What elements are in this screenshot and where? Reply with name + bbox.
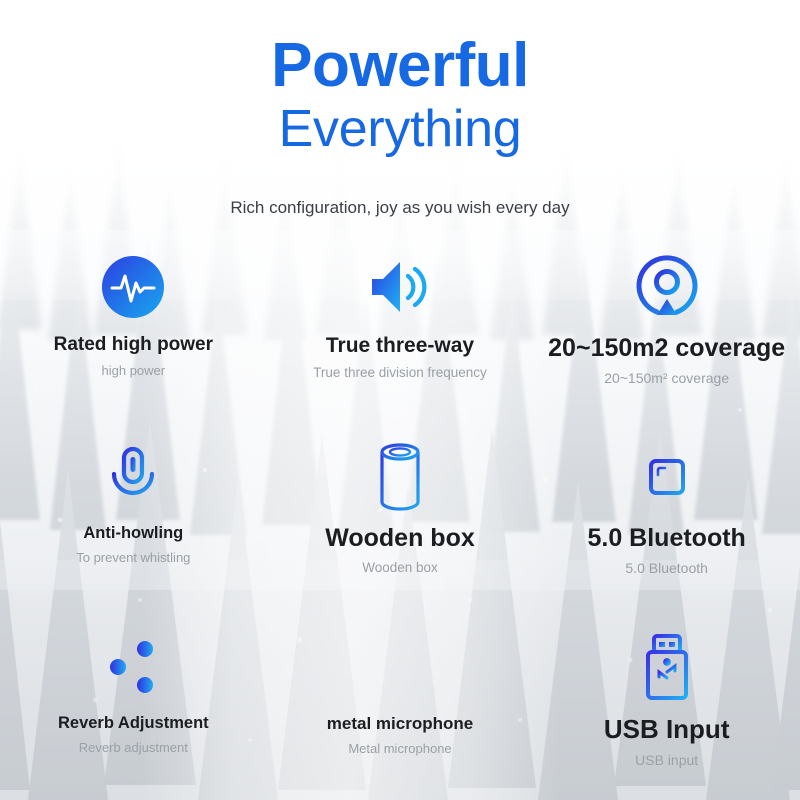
page-title: Powerful Everything bbox=[0, 34, 800, 156]
feature-subtitle: USB input bbox=[635, 752, 698, 768]
feature-title: 20~150m2 coverage bbox=[548, 334, 785, 363]
feature-title: Anti-howling bbox=[83, 524, 183, 543]
waveform-circle-icon bbox=[100, 246, 166, 328]
mesh-grille-icon bbox=[367, 626, 433, 708]
feature-subtitle: 5.0 Bluetooth bbox=[625, 560, 708, 576]
feature-item-metal-microphone: metal microphone Metal microphone bbox=[267, 626, 534, 800]
feature-item-usb-input: USB Input USB input bbox=[533, 626, 800, 800]
feature-title: USB Input bbox=[604, 714, 730, 745]
wood-log-icon bbox=[371, 436, 429, 518]
feature-title: True three-way bbox=[326, 334, 474, 358]
speaker-volume-icon bbox=[366, 246, 434, 328]
cpu-chip-icon bbox=[634, 436, 700, 518]
feature-title: metal microphone bbox=[327, 714, 473, 734]
feature-title: Wooden box bbox=[325, 524, 475, 553]
page-subtitle: Rich configuration, joy as you wish ever… bbox=[0, 198, 800, 218]
headline-line-1: Powerful bbox=[0, 34, 800, 97]
content-layer: Powerful Everything Rich configuration, … bbox=[0, 0, 800, 800]
feature-grid: Rated high power high power True three-w… bbox=[0, 246, 800, 800]
feature-subtitle: 20~150m² coverage bbox=[604, 370, 729, 386]
feature-subtitle: Wooden box bbox=[362, 560, 438, 575]
headline-line-2: Everything bbox=[0, 103, 800, 156]
feature-title: 5.0 Bluetooth bbox=[587, 524, 745, 553]
usb-drive-icon bbox=[641, 626, 693, 708]
feature-item-coverage: 20~150m2 coverage 20~150m² coverage bbox=[533, 246, 800, 426]
feature-item-anti-howling: Anti-howling To prevent whistling bbox=[0, 436, 267, 616]
feature-item-true-three-way: True three-way True three division frequ… bbox=[267, 246, 534, 426]
feature-item-reverb-adjustment: Reverb Adjustment Reverb adjustment bbox=[0, 626, 267, 800]
feature-subtitle: True three division frequency bbox=[313, 365, 487, 380]
feature-item-bluetooth: 5.0 Bluetooth 5.0 Bluetooth bbox=[533, 436, 800, 616]
feature-subtitle: To prevent whistling bbox=[76, 550, 190, 565]
feature-title: Rated high power bbox=[54, 334, 213, 356]
feature-item-rated-high-power: Rated high power high power bbox=[0, 246, 267, 426]
promo-page: Powerful Everything Rich configuration, … bbox=[0, 0, 800, 800]
equalizer-sliders-icon bbox=[97, 626, 169, 708]
feature-subtitle: high power bbox=[102, 363, 166, 378]
microphone-icon bbox=[104, 436, 162, 518]
feature-subtitle: Metal microphone bbox=[348, 741, 451, 756]
feature-title: Reverb Adjustment bbox=[58, 714, 209, 733]
feature-item-wooden-box: Wooden box Wooden box bbox=[267, 436, 534, 616]
coverage-area-icon bbox=[634, 246, 700, 328]
feature-subtitle: Reverb adjustment bbox=[79, 740, 188, 755]
